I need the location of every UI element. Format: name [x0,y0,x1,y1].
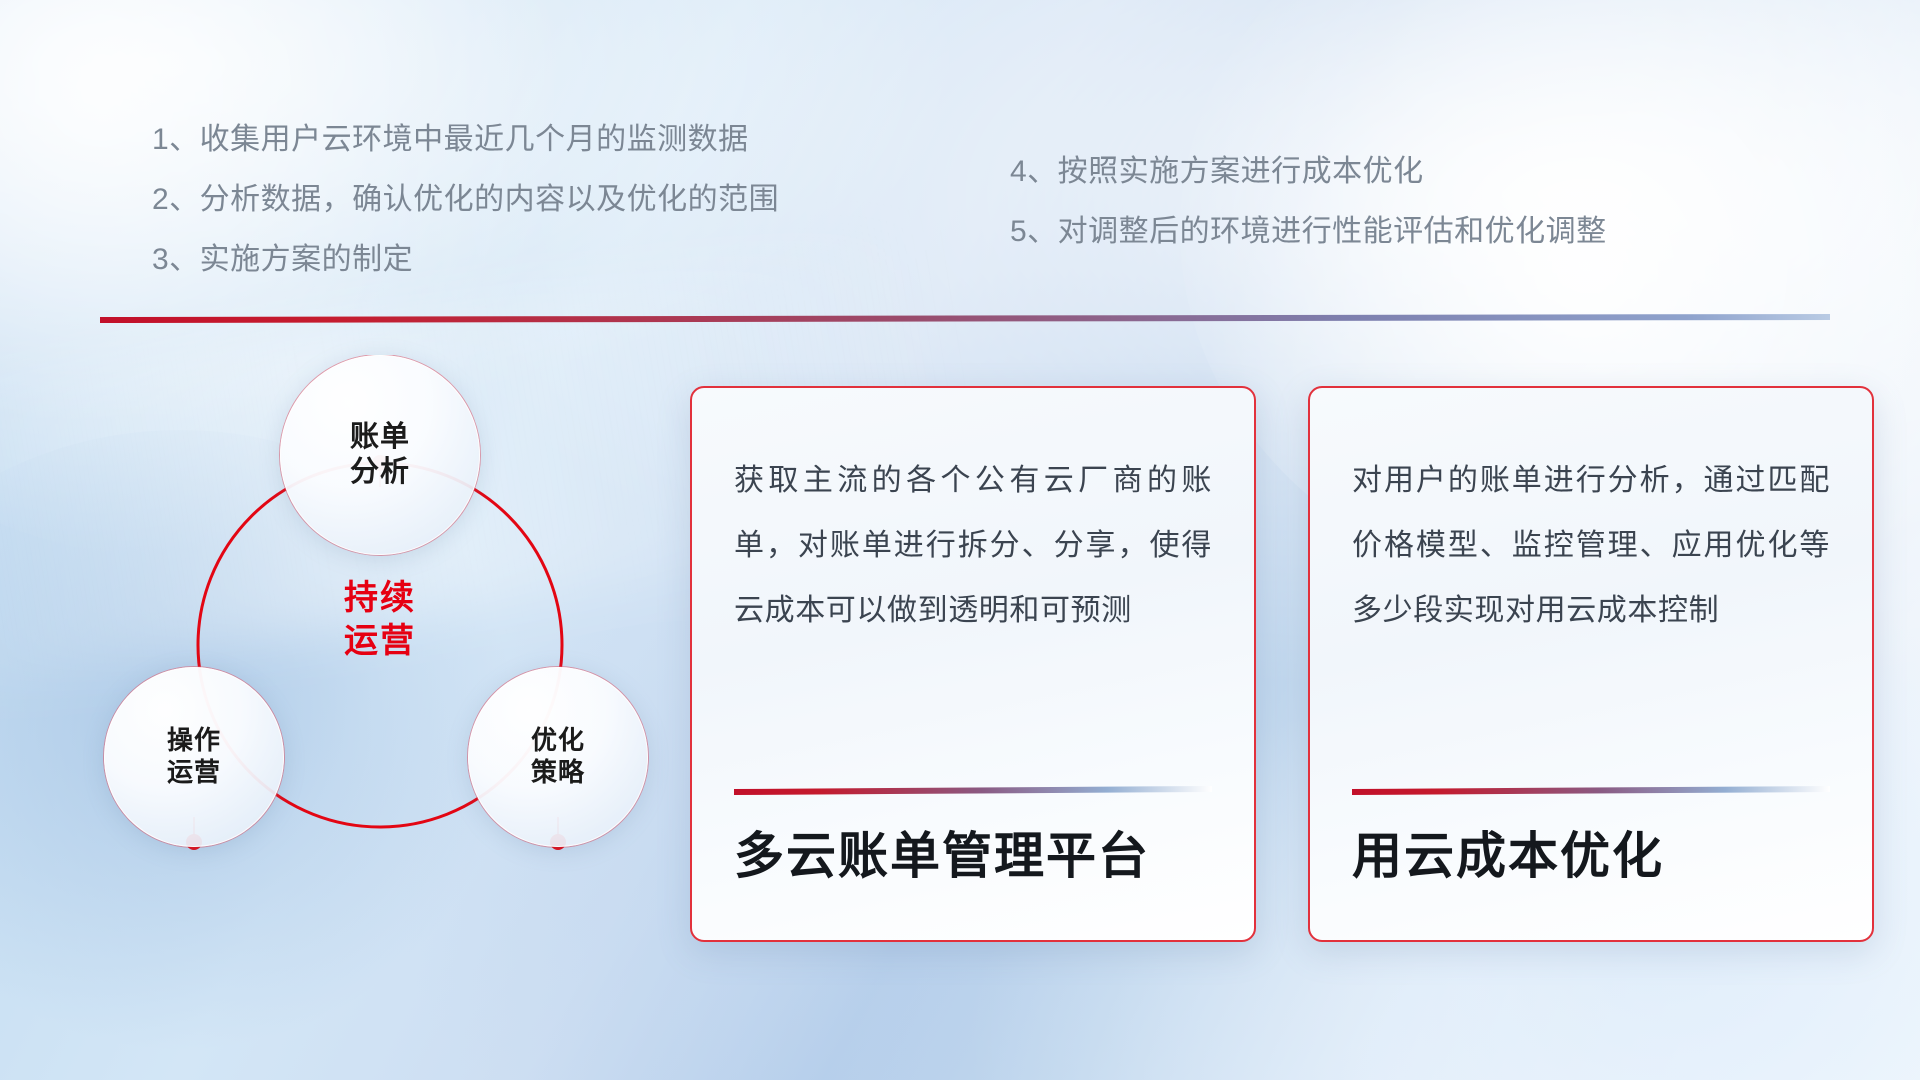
card-divider-rule [1352,786,1830,795]
section-divider-rule [100,314,1830,323]
bubble-line-2: 分析 [350,455,410,490]
center-label-line-1: 持续 [280,577,480,620]
bubble-optimization-strategy[interactable]: 优化 策略 [468,667,648,847]
venn-center-label: 持续 运营 [280,577,480,663]
bubble-operations[interactable]: 操作 运营 [104,667,284,847]
card-multicloud-billing[interactable]: 获取主流的各个公有云厂商的账单，对账单进行拆分、分享，使得云成本可以做到透明和可… [690,386,1256,942]
step-item: 1、收集用户云环境中最近几个月的监测数据 [152,125,779,155]
card-body-text: 对用户的账单进行分析，通过匹配价格模型、监控管理、应用优化等多少段实现对用云成本… [1352,448,1830,643]
bubble-line-1: 优化 [531,725,585,757]
card-title: 多云账单管理平台 [734,829,1212,884]
venn-diagram: 账单 分析 操作 运营 优化 策略 持续 运营 [90,355,650,955]
slide-canvas: 1、收集用户云环境中最近几个月的监测数据 2、分析数据，确认优化的内容以及优化的… [0,0,1920,1080]
center-label-line-2: 运营 [280,620,480,663]
card-body-text: 获取主流的各个公有云厂商的账单，对账单进行拆分、分享，使得云成本可以做到透明和可… [734,448,1212,643]
step-item: 4、按照实施方案进行成本优化 [1010,157,1607,187]
step-item: 3、实施方案的制定 [152,245,779,275]
step-item: 2、分析数据，确认优化的内容以及优化的范围 [152,185,779,215]
card-divider-rule [734,786,1212,795]
card-cloud-cost-optimization[interactable]: 对用户的账单进行分析，通过匹配价格模型、监控管理、应用优化等多少段实现对用云成本… [1308,386,1874,942]
bubble-line-1: 操作 [167,725,221,757]
bubble-line-1: 账单 [350,420,410,455]
steps-list-right: 4、按照实施方案进行成本优化 5、对调整后的环境进行性能评估和优化调整 [1010,157,1607,247]
steps-list-left: 1、收集用户云环境中最近几个月的监测数据 2、分析数据，确认优化的内容以及优化的… [152,125,779,275]
bubble-bill-analysis[interactable]: 账单 分析 [280,355,480,555]
card-title: 用云成本优化 [1352,829,1830,884]
step-item: 5、对调整后的环境进行性能评估和优化调整 [1010,217,1607,247]
bubble-line-2: 运营 [167,757,221,789]
bubble-line-2: 策略 [531,757,585,789]
